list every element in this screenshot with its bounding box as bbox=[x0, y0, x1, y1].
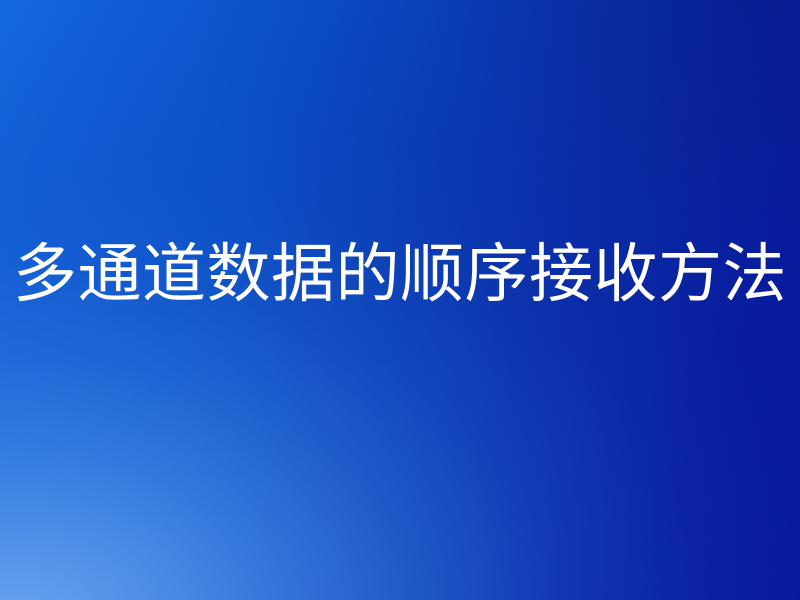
background-gradient-wash bbox=[0, 0, 800, 600]
title-slide: 多通道数据的顺序接收方法 bbox=[0, 0, 800, 600]
slide-title: 多通道数据的顺序接收方法 bbox=[0, 236, 800, 314]
background-corner-vignette bbox=[0, 0, 800, 600]
title-block: 多通道数据的顺序接收方法 bbox=[0, 236, 800, 314]
